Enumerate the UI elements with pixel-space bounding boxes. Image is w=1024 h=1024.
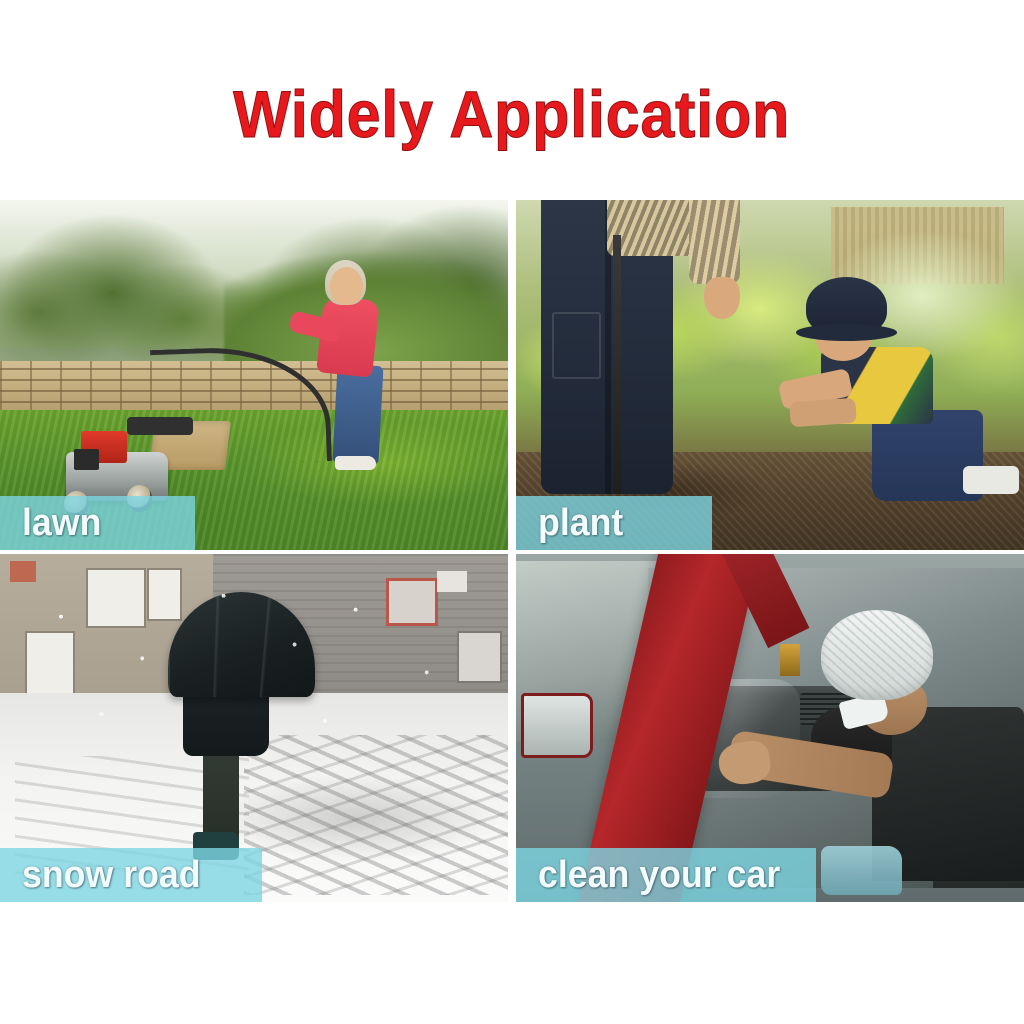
label-band-clean-your-car: clean your car xyxy=(516,848,816,902)
panel-label-clean-your-car: clean your car xyxy=(538,854,780,897)
mower-engine-cover xyxy=(74,449,99,470)
application-panel-clean-your-car[interactable]: clean your car xyxy=(516,554,1024,902)
adult-shirt xyxy=(607,200,698,256)
child-shoe xyxy=(963,466,1019,494)
adult-arm xyxy=(689,200,740,284)
page-title: Widely Application xyxy=(234,76,791,152)
trouser-pocket xyxy=(552,312,602,379)
garden-tool-handle xyxy=(613,235,621,494)
mower-deck xyxy=(127,417,193,435)
dashboard-ornament xyxy=(780,644,800,675)
panel-label-plant: plant xyxy=(538,502,623,545)
child-arm-lower xyxy=(790,397,858,426)
application-panel-plant[interactable]: plant xyxy=(516,200,1024,550)
side-mirror xyxy=(521,693,593,758)
label-band-lawn: lawn xyxy=(0,496,195,550)
application-gallery: lawn xyxy=(0,200,1024,906)
person-shoe xyxy=(335,456,376,470)
product-application-poster: Widely Application xyxy=(0,0,1024,1024)
person-head xyxy=(330,267,363,306)
hairnet xyxy=(821,610,933,700)
panel-label-lawn: lawn xyxy=(22,502,101,545)
application-panel-lawn[interactable]: lawn xyxy=(0,200,508,550)
adult-hand xyxy=(704,277,740,319)
cleaning-cloth xyxy=(821,846,902,895)
panel-label-snow-road: snow road xyxy=(22,854,201,897)
person-legs-jeans xyxy=(333,363,384,463)
child-bucket-hat xyxy=(806,277,887,337)
label-band-plant: plant xyxy=(516,496,712,550)
title-bar: Widely Application xyxy=(0,0,1024,200)
application-panel-snow-road[interactable]: snow road xyxy=(0,554,508,902)
label-band-snow-road: snow road xyxy=(0,848,262,902)
